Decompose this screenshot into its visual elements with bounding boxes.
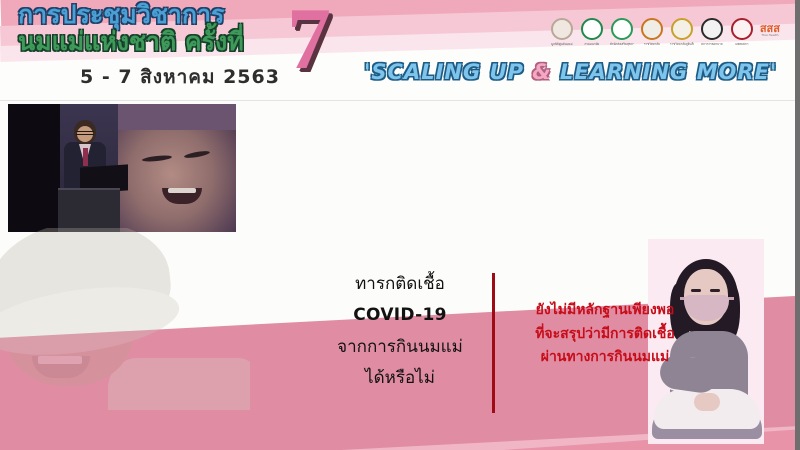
royal-college-logo: ราชวิทยาลัยสูตินรีแพทย์	[670, 18, 694, 42]
mother-eye-left	[691, 289, 701, 292]
answer-line-1: ยังไม่มีหลักฐานเพียงพอ	[505, 299, 705, 323]
right-edge-gutter	[795, 0, 800, 450]
answer-line-2: ที่จะสรุปว่ามีการติดเชื้อ	[505, 323, 705, 347]
question-line-2: COVID-19	[320, 300, 480, 331]
royal-college-icon	[671, 18, 693, 40]
tagline-part2: LEARNING MORE'	[552, 60, 778, 84]
video-baby-background	[118, 104, 236, 130]
logo-caption: มูลนิธิศูนย์นมแม่	[550, 42, 574, 47]
thai-pediatric-logo: ราชวิทยาลัย	[640, 18, 664, 42]
mother-hand	[694, 393, 720, 411]
speaker-tie	[83, 148, 88, 166]
watermark-baby-teeth	[38, 356, 82, 364]
royal-emblem-icon	[551, 18, 573, 40]
sponsor-logo-row: มูลนิธิศูนย์นมแม่ กรมอนามัย สำนักส่งเสริ…	[550, 18, 780, 42]
tagline-ampersand: &	[532, 60, 551, 84]
conference-title: การประชุมวิชาการ นมแม่แห่งชาติ ครั้งที่	[18, 2, 298, 54]
mother-eye-right	[710, 289, 720, 292]
conference-title-line1: การประชุมวิชาการ	[18, 2, 298, 28]
nursing-council-icon	[701, 18, 723, 40]
ministry-public-health-logo: กรมอนามัย	[580, 18, 604, 42]
thaihealth-sss-logo: สสส Thai Health	[760, 23, 780, 37]
question-line-3: จากการกินนมแม่	[320, 332, 480, 363]
logo-caption: สภาการพยาบาล	[700, 42, 724, 47]
question-line-1: ทารกติดเชื้อ	[320, 269, 480, 300]
logo-caption: ราชวิทยาลัย	[640, 42, 664, 47]
video-dark-area	[8, 104, 60, 232]
presentation-slide: 7 การประชุมวิชาการ นมแม่แห่งชาติ ครั้งที…	[0, 0, 795, 450]
conference-tagline: 'SCALING UP & LEARNING MORE'	[364, 60, 777, 84]
video-baby-eye-left	[142, 154, 172, 162]
screenshot-root: 7 การประชุมวิชาการ นมแม่แห่งชาติ ครั้งที…	[0, 0, 800, 450]
medical-council-logo: แพทยสภา	[730, 18, 754, 42]
glasses-icon	[76, 131, 94, 135]
medical-council-icon	[731, 18, 753, 40]
nursing-council-logo: สภาการพยาบาล	[700, 18, 724, 42]
department-health-logo: สำนักส่งเสริมสุขภาพ	[610, 18, 634, 42]
video-baby-teeth	[168, 188, 196, 193]
logo-caption: สำนักส่งเสริมสุขภาพ	[610, 42, 634, 47]
conference-title-line2: นมแม่แห่งชาติ ครั้งที่	[18, 29, 298, 55]
logo-caption: แพทยสภา	[730, 42, 754, 47]
slide-header-banner: 7 การประชุมวิชาการ นมแม่แห่งชาติ ครั้งที…	[0, 0, 795, 100]
question-text-block: ทารกติดเชื้อ COVID-19 จากการกินนมแม่ ได้…	[320, 269, 480, 395]
podium	[58, 188, 120, 232]
vertical-red-divider	[492, 273, 495, 413]
department-health-icon	[611, 18, 633, 40]
conference-date: 5 - 7 สิงหาคม 2563	[80, 62, 280, 92]
ministry-public-health-icon	[581, 18, 603, 40]
logo-caption: กรมอนามัย	[580, 42, 604, 47]
tagline-part1: 'SCALING UP	[364, 60, 532, 84]
sss-logo-caption: Thai Health	[760, 34, 780, 37]
answer-line-3: ผ่านทางการกินนมแม่	[505, 346, 705, 370]
watermark-baby-body	[108, 358, 250, 410]
baby-photo-watermark	[0, 228, 250, 410]
thai-pediatric-icon	[641, 18, 663, 40]
video-projection-baby-image	[118, 104, 236, 232]
video-baby-eye-right	[184, 150, 210, 159]
logo-caption: ราชวิทยาลัยสูตินรีแพทย์	[670, 42, 694, 47]
answer-text-block: ยังไม่มีหลักฐานเพียงพอ ที่จะสรุปว่ามีการ…	[505, 299, 705, 370]
speaker-webcam-feed[interactable]	[8, 104, 236, 232]
royal-emblem-logo: มูลนิธิศูนย์นมแม่	[550, 18, 574, 42]
question-line-4: ได้หรือไม่	[320, 363, 480, 394]
